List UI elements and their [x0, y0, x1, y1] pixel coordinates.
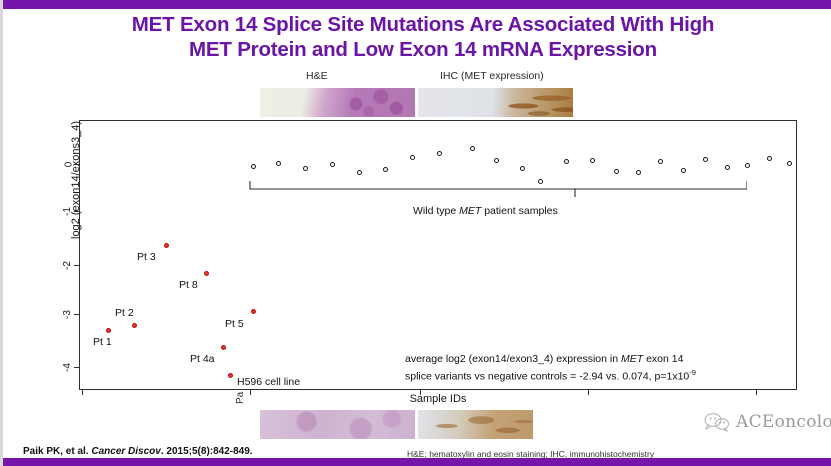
- wildtype-annotation: Wild type MET patient samples: [413, 205, 558, 217]
- data-label-pt8: Pt 8: [179, 279, 198, 291]
- bottom-accent-bar: [3, 458, 831, 466]
- citation-journal: Cancer Discov: [91, 446, 160, 457]
- data-point-wildtype: [520, 166, 525, 171]
- wt-note-italic: MET: [459, 205, 481, 217]
- data-point-wildtype: [564, 159, 569, 164]
- data-point-wildtype: [494, 158, 499, 163]
- data-point-pt5: [251, 309, 256, 314]
- statistics-annotation: average log2 (exon14/exon3_4) expression…: [405, 353, 789, 384]
- data-point-pt2: [132, 323, 137, 328]
- slide-root: MET Exon 14 Splice Site Mutations Are As…: [0, 0, 831, 466]
- y-tick-3: -3: [50, 309, 72, 320]
- y-tick-line-4: [74, 367, 80, 368]
- scatter-plot-panel: log2 (exon14/exons3_4) 0 -1 -2 -3 -4: [79, 120, 797, 390]
- micrograph-caption-he: H&E: [306, 70, 328, 82]
- wt-note-before: Wild type: [413, 205, 459, 217]
- data-point-wildtype: [614, 169, 619, 174]
- data-point-wildtype: [383, 167, 388, 172]
- data-point-wildtype: [276, 161, 281, 166]
- data-label-pt3: Pt 3: [137, 251, 156, 263]
- data-point-wildtype: [251, 164, 256, 169]
- data-point-wildtype: [357, 170, 362, 175]
- y-tick-2: -2: [50, 260, 72, 271]
- y-tick-line-2: [74, 265, 80, 266]
- micrograph-caption-ihc: IHC (MET expression): [440, 70, 544, 82]
- y-tick-4: -4: [50, 362, 72, 373]
- data-point-wildtype: [590, 158, 595, 163]
- stats-line2: splice variants vs negative controls = -…: [405, 371, 689, 383]
- y-axis-label: log2 (exon14/exons3_4): [70, 121, 82, 239]
- data-point-pt8: [204, 271, 209, 276]
- data-point-pt4a: [221, 345, 226, 350]
- data-point-wildtype: [470, 146, 475, 151]
- data-label-pt1: Pt 1: [93, 336, 112, 348]
- data-label-pt4a: Pt 4a: [190, 353, 215, 365]
- data-point-wildtype: [303, 166, 308, 171]
- data-point-wildtype: [658, 159, 663, 164]
- he-micrograph-top: [260, 88, 415, 117]
- watermark-text: ACEoncology: [736, 412, 831, 432]
- data-point-wildtype: [636, 170, 641, 175]
- data-point-wildtype: [725, 165, 730, 170]
- y-tick-1: -1: [50, 206, 72, 217]
- top-accent-bar: [3, 0, 831, 9]
- he-micrograph-bottom: [260, 410, 415, 439]
- y-tick-line-1: [74, 211, 80, 212]
- data-label-h596: H596 cell line: [237, 376, 300, 388]
- x-axis-label: Sample IDs: [80, 393, 796, 405]
- y-tick-line-0: [74, 164, 80, 165]
- citation-authors: Paik PK, et al.: [23, 446, 91, 457]
- data-point-wildtype: [681, 168, 686, 173]
- data-point-h596: [228, 373, 233, 378]
- ihc-micrograph-bottom: [418, 410, 533, 439]
- title-line-1: MET Exon 14 Splice Site Mutations Are As…: [43, 12, 803, 37]
- title-line-2: MET Protein and Low Exon 14 mRNA Express…: [43, 37, 803, 62]
- stats-line1-after: exon 14: [643, 353, 683, 365]
- stats-line1-italic: MET: [621, 353, 643, 365]
- ihc-micrograph-top: [418, 88, 573, 117]
- wildtype-bracket-icon: [249, 181, 747, 197]
- data-point-wildtype: [410, 155, 415, 160]
- data-label-pt2: Pt 2: [115, 307, 134, 319]
- data-label-pt5: Pt 5: [225, 318, 244, 330]
- y-tick-line-3: [74, 314, 80, 315]
- y-tick-0: 0: [50, 159, 72, 170]
- watermark: ACEoncology: [703, 412, 831, 432]
- data-point-wildtype: [330, 162, 335, 167]
- stats-exponent: -9: [689, 368, 696, 377]
- data-point-wildtype: [703, 157, 708, 162]
- citation: Paik PK, et al. Cancer Discov. 2015;5(8)…: [23, 446, 253, 457]
- wechat-logo-icon: [703, 412, 731, 432]
- data-point-pt1: [106, 328, 111, 333]
- partial-rotated-label: Pa: [235, 392, 246, 404]
- citation-details: . 2015;5(8):842-849.: [161, 446, 253, 457]
- data-point-pt3: [164, 243, 169, 248]
- data-point-wildtype: [767, 156, 772, 161]
- footnote: H&E; hematoxylin and eosin staining; IHC…: [407, 449, 654, 459]
- stats-line1-before: average log2 (exon14/exon3_4) expression…: [405, 353, 621, 365]
- wt-note-after: patient samples: [481, 205, 557, 217]
- data-point-wildtype: [787, 161, 792, 166]
- page-title: MET Exon 14 Splice Site Mutations Are As…: [43, 12, 803, 62]
- data-point-wildtype: [745, 163, 750, 168]
- data-point-wildtype: [437, 151, 442, 156]
